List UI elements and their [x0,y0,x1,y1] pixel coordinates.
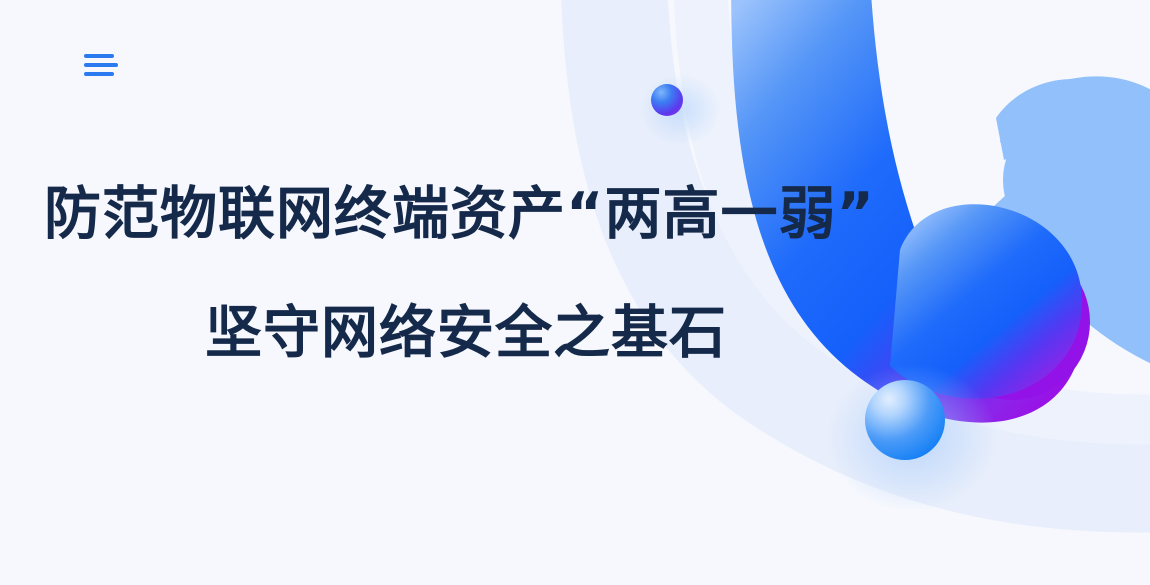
light-blue-arc-tail [994,118,1150,392]
light-blue-arc-cap [996,79,1142,184]
hamburger-menu-icon-bar-1 [84,54,114,58]
hamburger-menu-button[interactable] [84,50,118,80]
small-sphere-glow [640,74,720,146]
light-blue-arc-round-end [1003,108,1147,252]
presentation-slide: 防范物联网终端资产“两高一弱” 坚守网络安全之基石 [0,0,1150,585]
large-blue-sphere [865,380,945,460]
light-blue-arc [1000,76,1150,360]
slide-title-line-2: 坚守网络安全之基石 [0,305,880,362]
slide-title-line-1: 防范物联网终端资产“两高一弱” [0,186,880,243]
hamburger-menu-icon-bar-3 [84,72,114,76]
small-gradient-sphere [651,84,683,116]
ribbon-purple-blend [890,204,1082,399]
slide-title-block: 防范物联网终端资产“两高一弱” 坚守网络安全之基石 [0,186,880,362]
large-sphere-glow [826,364,998,512]
ribbon-purple-end [934,244,1090,400]
hamburger-menu-icon-bar-2 [84,63,118,67]
